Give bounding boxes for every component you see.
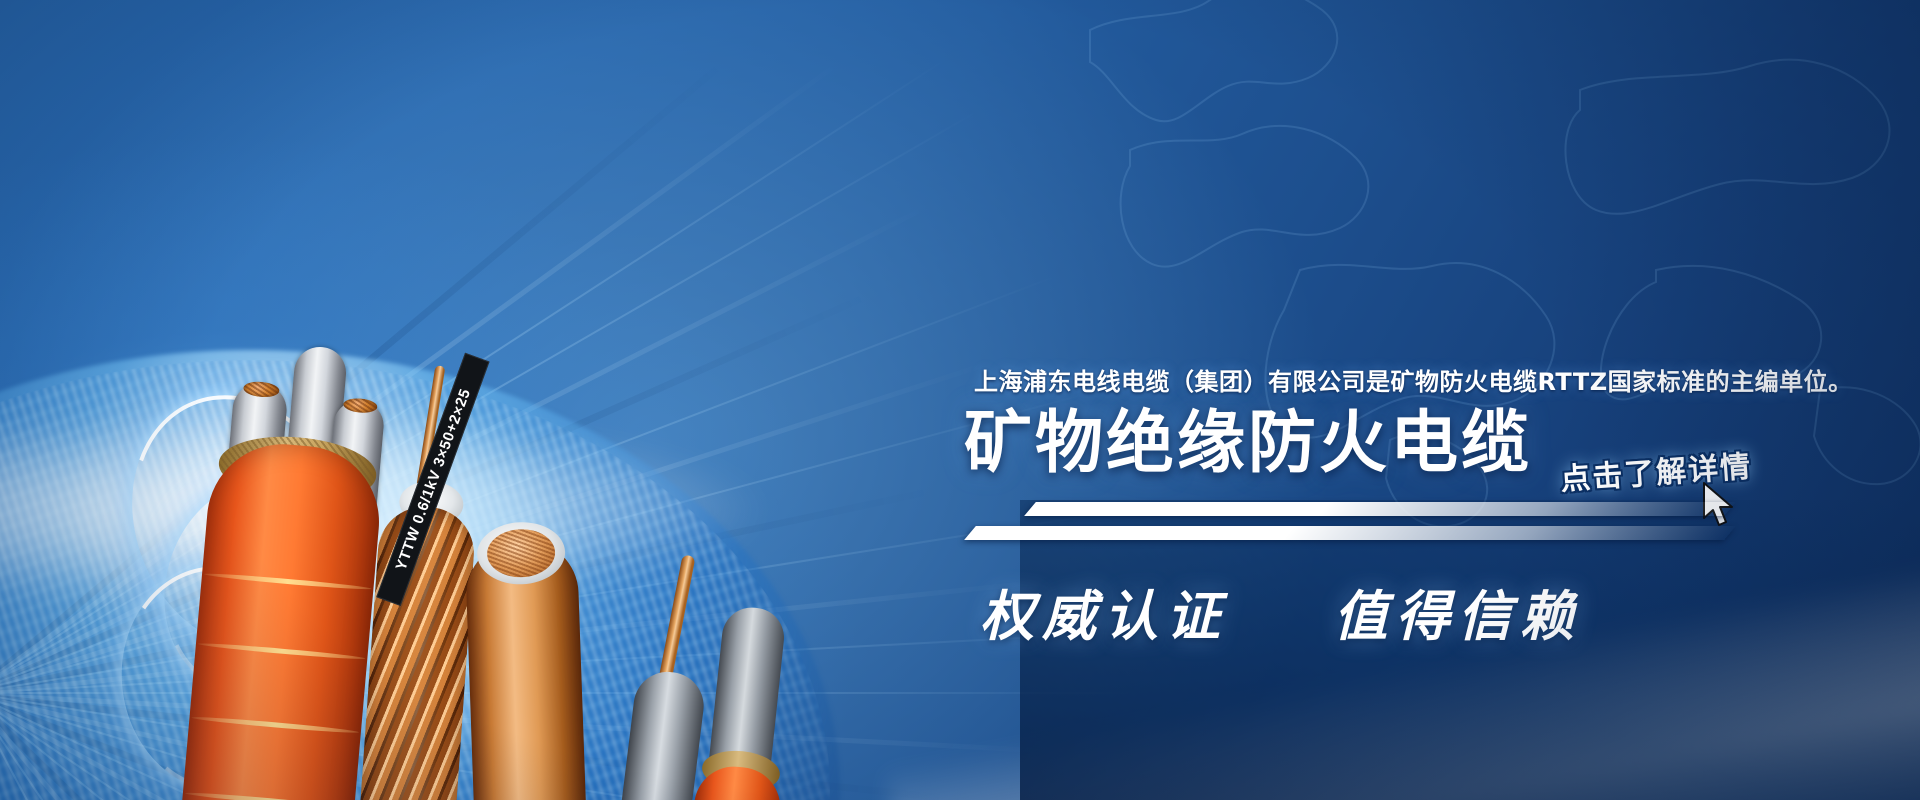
slogan-part-right: 值得信赖: [1334, 584, 1582, 648]
cable-copper-solid: [464, 508, 592, 800]
decorative-bars: [880, 498, 1760, 556]
decorative-bar-top: [1024, 502, 1736, 516]
banner-slogan: 权威认证 值得信赖: [980, 572, 1582, 651]
cable-orange-sheath: [180, 438, 385, 800]
cable-steel-conductors: [709, 605, 787, 771]
slogan-part-left: 权威认证: [980, 584, 1228, 648]
cable-orange-large: [180, 404, 388, 800]
banner-tagline: 上海浦东电线电缆（集团）有限公司是矿物防火电缆RTTZ国家标准的主编单位。: [974, 362, 1853, 397]
cable-product-image: YTTW 0.6/1kV 3×50+2×25: [120, 180, 880, 800]
conductor-cap: [299, 338, 344, 362]
cable-steel-shell: [600, 668, 707, 800]
cable-exposed-conductor: [658, 554, 696, 684]
decorative-bar-bottom: [964, 526, 1736, 540]
banner-headline: 矿物绝缘防火电缆: [964, 410, 1532, 478]
hero-banner: YTTW 0.6/1kV 3×50+2×25 上海浦东电线电缆（集团）有限公司是…: [0, 0, 1920, 800]
